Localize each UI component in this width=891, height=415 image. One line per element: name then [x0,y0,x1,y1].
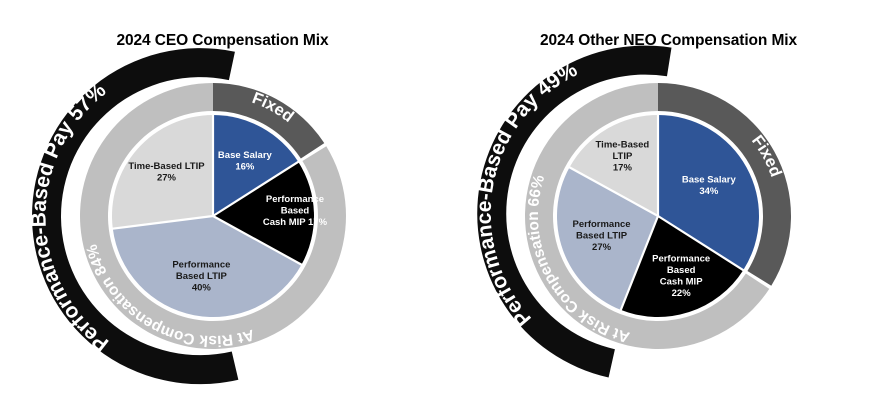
chart-panel-ceo: 2024 CEO Compensation Mix Performance-Ba… [0,0,445,415]
donut-chart-neo: Performance-Based Pay 49%FixedAt Risk Co… [446,0,891,415]
inner-pie [555,113,760,318]
chart-panel-neo: 2024 Other NEO Compensation Mix Performa… [446,0,891,415]
donut-chart-ceo: Performance-Based Pay 57%FixedAt Risk Co… [0,0,445,415]
compensation-mix-figure: 2024 CEO Compensation Mix Performance-Ba… [0,0,891,415]
